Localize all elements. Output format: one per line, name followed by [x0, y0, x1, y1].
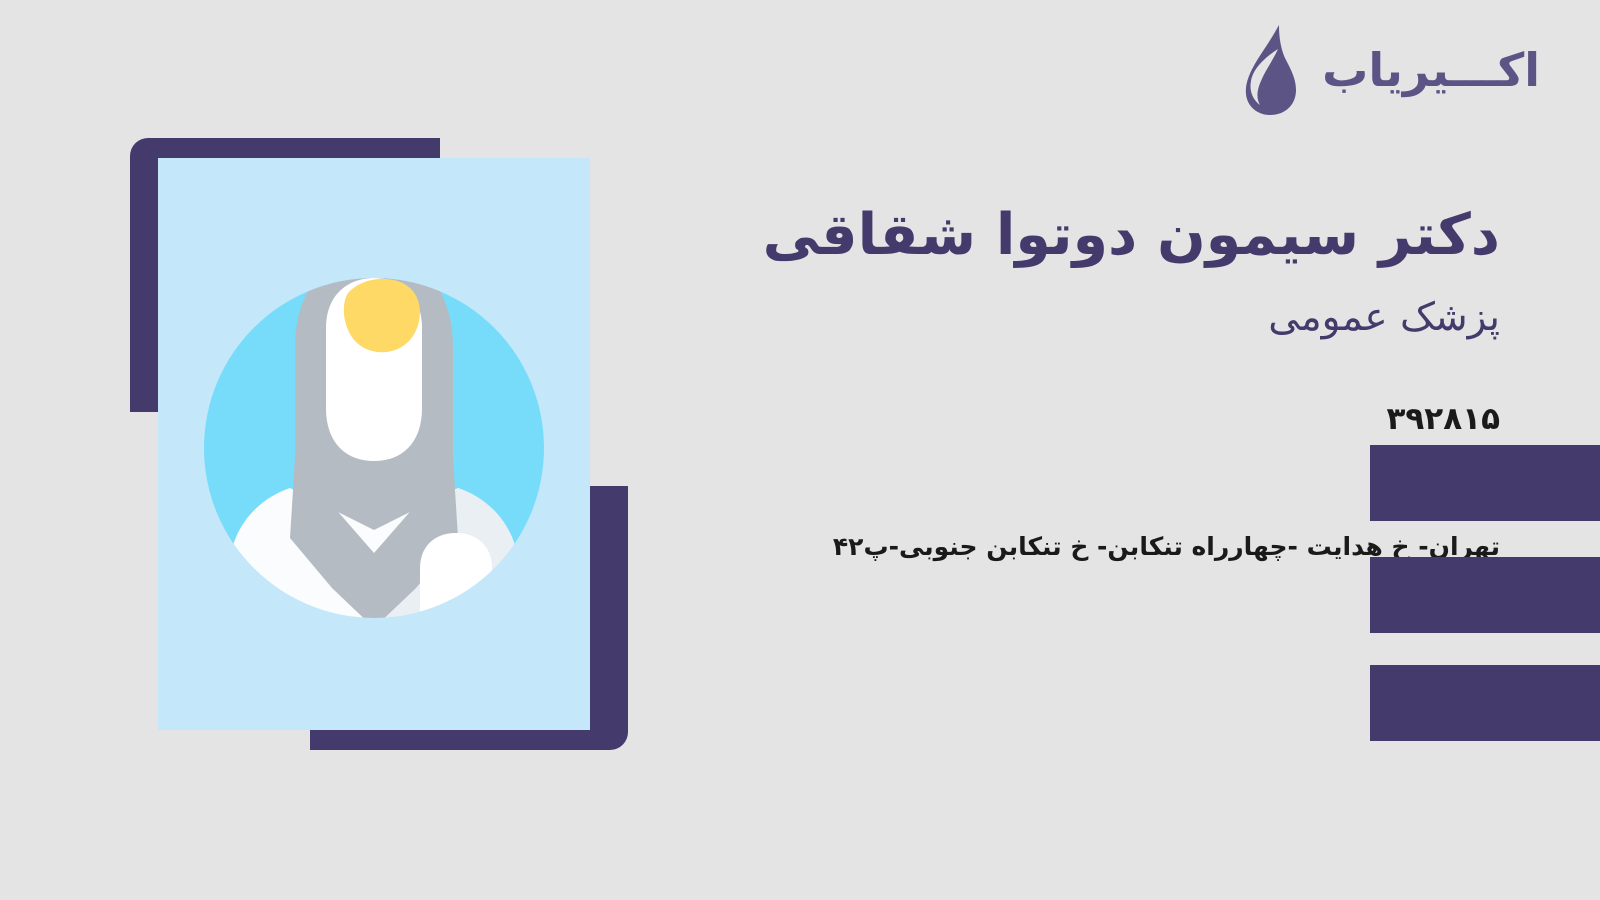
- doctor-name: دکتر سیمون دوتوا شقاقی: [680, 200, 1500, 271]
- brand-logo[interactable]: اکـــیریاب: [1232, 22, 1540, 118]
- brand-name: اکـــیریاب: [1322, 47, 1540, 93]
- doctor-illustration: [130, 138, 630, 750]
- decorative-bar-1: [1370, 445, 1600, 521]
- doctor-avatar-photo: [158, 158, 590, 730]
- license-number: ۳۹۲۸۱۵: [1386, 404, 1500, 435]
- decorative-bar-2: [1370, 557, 1600, 633]
- flame-droplet-logo-icon: [1232, 24, 1308, 116]
- decorative-bar-3: [1370, 665, 1600, 741]
- license-row: ۳۹۲۸۱۵: [680, 390, 1500, 450]
- sleeve-shape: [420, 533, 492, 678]
- doctor-profile-card: اکـــیریاب: [0, 0, 1600, 900]
- doctor-specialty: پزشک عمومی: [680, 293, 1500, 344]
